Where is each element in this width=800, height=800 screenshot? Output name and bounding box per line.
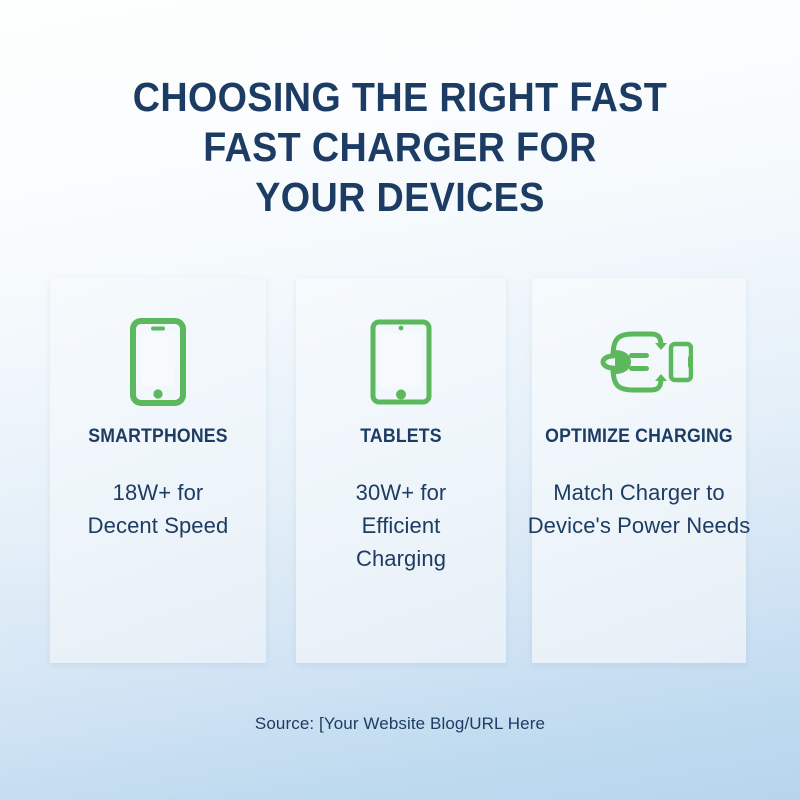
page-title: CHOOSING THE RIGHT FAST FAST CHARGER FOR… xyxy=(0,72,800,222)
card-heading: TABLETS xyxy=(266,426,536,448)
card-body-line: Device's Power Needs xyxy=(498,509,780,542)
card-body-line: Decent Speed xyxy=(16,509,300,542)
card-heading: SMARTPHONES xyxy=(20,426,295,448)
title-line-2: FAST CHARGER FOR xyxy=(32,122,768,172)
card-body: Match Charger to Device's Power Needs xyxy=(498,476,780,542)
source-line: Source: [Your Website Blog/URL Here xyxy=(0,714,800,734)
card-heading: OPTIMIZE CHARGING xyxy=(502,426,775,448)
smartphone-icon xyxy=(50,316,266,408)
card-tablets: TABLETS 30W+ for Efficient Charging xyxy=(296,278,506,663)
card-optimize-charging: OPTIMIZE CHARGING Match Charger to Devic… xyxy=(532,278,746,663)
tablet-icon xyxy=(296,316,506,408)
title-line-1: CHOOSING THE RIGHT FAST xyxy=(32,72,768,122)
card-row: SMARTPHONES 18W+ for Decent Speed TABLET… xyxy=(0,278,800,663)
title-line-3: YOUR DEVICES xyxy=(32,172,768,222)
card-body-line: 18W+ for xyxy=(16,476,300,509)
card-smartphones: SMARTPHONES 18W+ for Decent Speed xyxy=(50,278,266,663)
charging-plug-battery-icon xyxy=(532,316,746,408)
card-body: 18W+ for Decent Speed xyxy=(16,476,300,542)
card-body-line: Charging xyxy=(262,542,540,575)
infographic-poster: CHOOSING THE RIGHT FAST FAST CHARGER FOR… xyxy=(0,0,800,800)
card-body-line: Match Charger to xyxy=(498,476,780,509)
